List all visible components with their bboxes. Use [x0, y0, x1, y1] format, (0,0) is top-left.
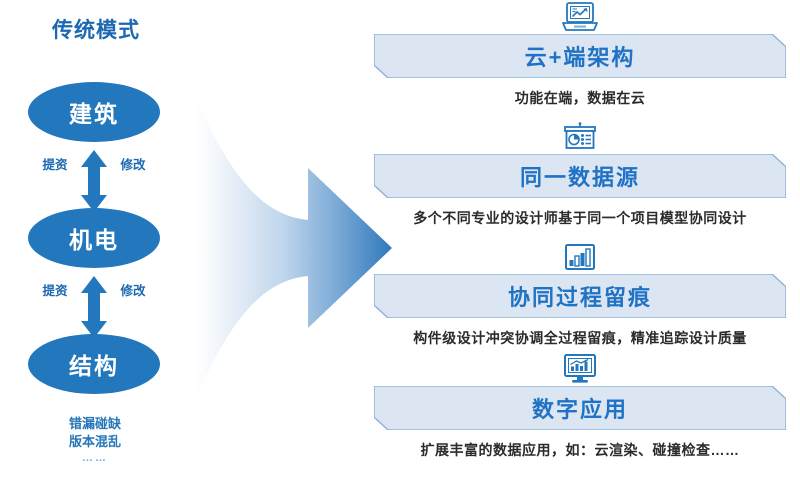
feature-desc-digital-apps: 扩展丰富的数据应用，如：云渲染、碰撞检查…… [360, 430, 800, 460]
arrow-label-down-1-text: 修改 [120, 158, 146, 173]
presentation-board-icon [360, 120, 800, 154]
feature-card-digital-apps[interactable]: 数字应用 [374, 386, 786, 430]
feature-desc-cloud-architecture: 功能在端，数据在云 [360, 78, 800, 108]
feature-title-cloud-architecture: 云+端架构 [525, 40, 636, 72]
node-structure: 结构 [28, 334, 160, 394]
feature-title-digital-apps: 数字应用 [532, 392, 628, 424]
traditional-mode-panel: 传统模式 建筑 提资 修改 机电 提资 修改 [0, 0, 210, 480]
feature-block-process-trace: 协同过程留痕 构件级设计冲突协调全过程留痕，精准追踪设计质量 [360, 240, 800, 348]
feature-card-single-data-source[interactable]: 同一数据源 [374, 154, 786, 198]
arrow-label-up-2: 提资 [42, 284, 68, 299]
arrow-label-up-1: 提资 [42, 158, 68, 173]
new-mode-panel: 云+端架构 功能在端，数据在云 [360, 0, 800, 480]
feature-card-cloud-architecture[interactable]: 云+端架构 [374, 34, 786, 78]
feature-title-single-data-source: 同一数据源 [520, 160, 640, 192]
node-structure-label: 结构 [69, 347, 119, 381]
arrow-label-up-2-text: 提资 [42, 284, 68, 299]
problems-line-1: 错漏碰缺 [0, 415, 190, 433]
feature-block-digital-apps: 数字应用 扩展丰富的数据应用，如：云渲染、碰撞检查…… [360, 352, 800, 460]
double-arrow-icon-1 [80, 150, 108, 212]
monitor-chart-icon [360, 352, 800, 386]
feature-block-single-data-source: 同一数据源 多个不同专业的设计师基于同一个项目模型协同设计 [360, 120, 800, 228]
feature-desc-single-data-source: 多个不同专业的设计师基于同一个项目模型协同设计 [360, 198, 800, 228]
node-architecture-label: 建筑 [69, 95, 119, 129]
arrow-label-down-2-text: 修改 [120, 284, 146, 299]
bar-chart-icon [360, 240, 800, 274]
feature-desc-process-trace: 构件级设计冲突协调全过程留痕，精准追踪设计质量 [360, 318, 800, 348]
problems-ellipsis: …… [0, 452, 190, 464]
node-mep: 机电 [28, 208, 160, 268]
double-arrow-icon-2 [80, 276, 108, 338]
node-architecture: 建筑 [28, 82, 160, 142]
problems-note: 错漏碰缺 版本混乱 [0, 415, 190, 451]
page-title: 传统模式 [0, 14, 192, 44]
node-mep-label: 机电 [69, 221, 119, 255]
arrow-label-up-1-text: 提资 [42, 158, 68, 173]
feature-block-cloud-architecture: 云+端架构 功能在端，数据在云 [360, 0, 800, 108]
feature-card-process-trace[interactable]: 协同过程留痕 [374, 274, 786, 318]
arrow-label-down-2: 修改 [120, 284, 146, 299]
laptop-chart-icon [360, 0, 800, 34]
problems-line-2: 版本混乱 [0, 433, 190, 451]
feature-title-process-trace: 协同过程留痕 [508, 280, 652, 312]
arrow-label-down-1: 修改 [120, 158, 146, 173]
slide-canvas: 传统模式 建筑 提资 修改 机电 提资 修改 [0, 0, 800, 480]
